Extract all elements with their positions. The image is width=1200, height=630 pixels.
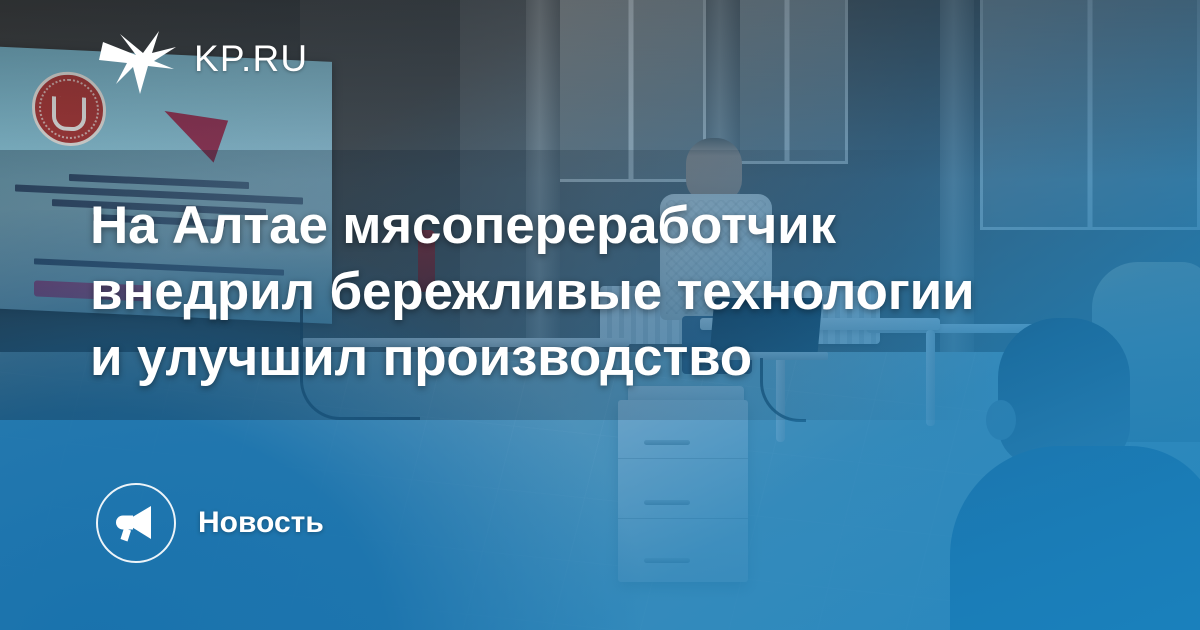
badge-circle <box>96 483 176 563</box>
badge-label: Новость <box>198 508 324 538</box>
headline-line-1: На Алтае мясопереработчик <box>90 193 1050 259</box>
headline-line-3: и улучшил производство <box>90 325 1050 391</box>
headline: На Алтае мясопереработчик внедрил бережл… <box>90 193 1050 391</box>
news-badge[interactable]: Новость <box>96 483 324 563</box>
social-share-card: KP.RU На Алтае мясопереработчик внедрил … <box>0 0 1200 630</box>
megaphone-icon <box>114 503 158 543</box>
brand-logo[interactable]: KP.RU <box>96 22 308 94</box>
headline-line-2: внедрил бережливые технологии <box>90 259 1050 325</box>
brand-name: KP.RU <box>194 40 308 77</box>
swallow-bird-icon <box>96 22 180 94</box>
